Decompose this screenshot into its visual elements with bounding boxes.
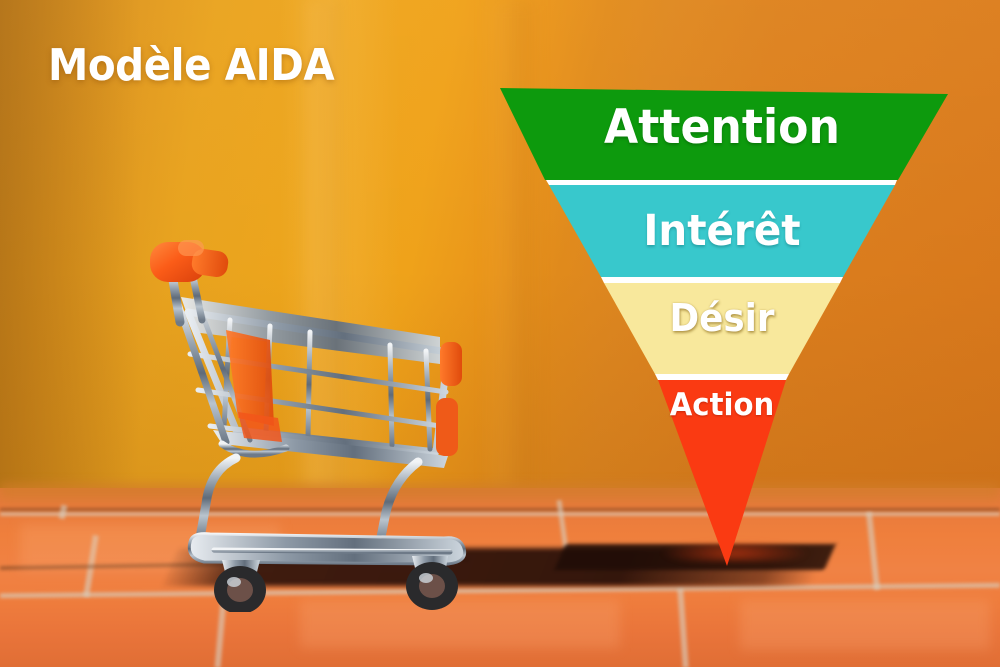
funnel-label-desir: Désir (252, 296, 1000, 340)
funnel-label-interet: Intérêt (252, 206, 1000, 256)
funnel-label-action: Action (252, 387, 1000, 423)
funnel-labels: Attention Intérêt Désir Action (274, 0, 1000, 667)
funnel-label-attention: Attention (252, 100, 1000, 155)
aida-model-graphic: Modèle AIDA Attention Intérêt Désir Acti… (0, 0, 1000, 667)
